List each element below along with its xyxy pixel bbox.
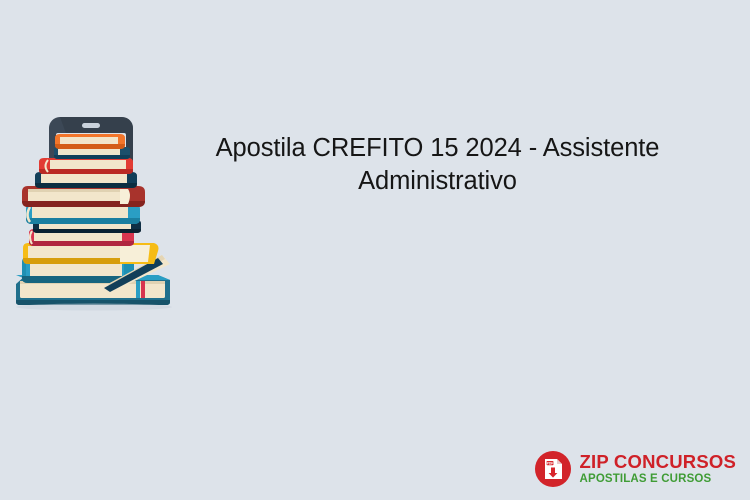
book-orange-top xyxy=(55,134,125,149)
book-red xyxy=(39,158,133,174)
svg-text:PDF: PDF xyxy=(546,461,553,465)
logo-wordmark: ZIP CONCURSOS APOSTILAS E CURSOS xyxy=(580,453,736,486)
product-title-line-1: Apostila CREFITO 15 2024 - Assistente xyxy=(195,132,680,165)
pdf-download-icon: PDF xyxy=(534,450,572,488)
page-title: Apostila CREFITO 15 2024 - Assistente Ad… xyxy=(195,132,680,198)
product-banner: Apostila CREFITO 15 2024 - Assistente Ad… xyxy=(0,0,750,500)
product-title-line-2: Administrativo xyxy=(195,165,680,198)
books-and-tablet-illustration xyxy=(8,112,183,312)
logo-secondary-text: APOSTILAS E CURSOS xyxy=(580,474,736,486)
zip-concursos-logo[interactable]: PDF ZIP CONCURSOS APOSTILAS E CURSOS xyxy=(534,450,736,488)
logo-primary-text: ZIP CONCURSOS xyxy=(580,453,736,472)
book-darkred xyxy=(22,186,145,207)
book-navy xyxy=(35,172,137,188)
book-yellow xyxy=(23,243,159,264)
